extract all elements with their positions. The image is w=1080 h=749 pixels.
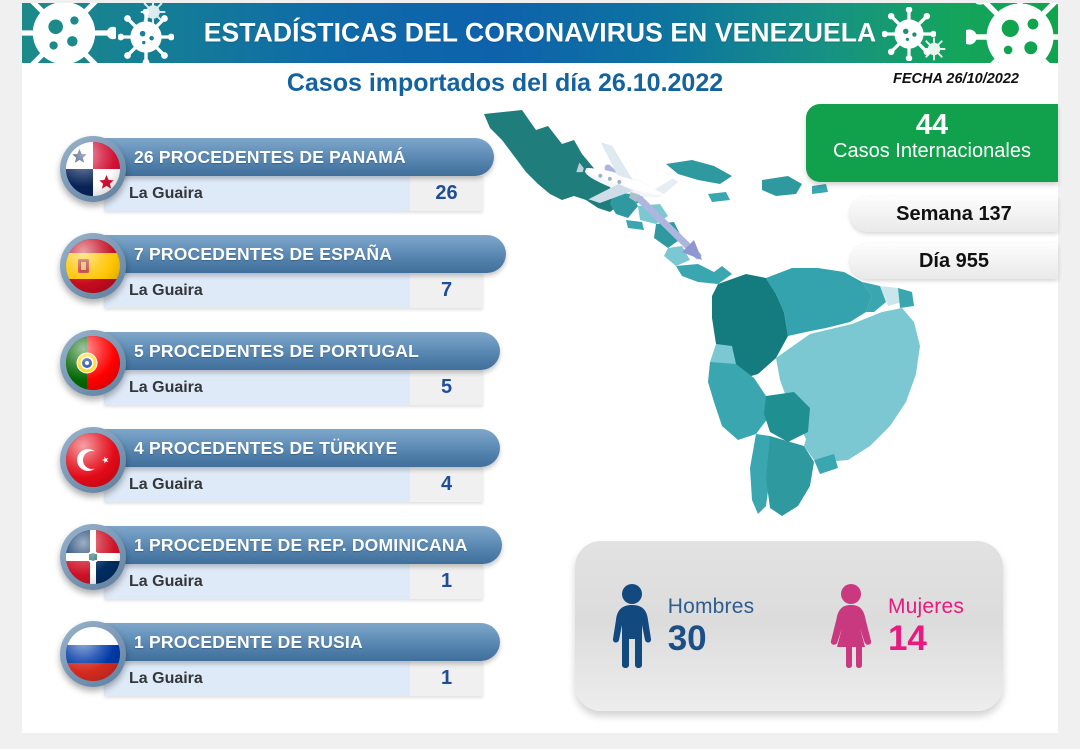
country-pill: 26 PROCEDENTES DE PANAMÁ [104, 138, 494, 176]
male-figure-icon [610, 583, 654, 669]
country-row: 4 PROCEDENTES DE TÜRKIYE La Guaira 4 [0, 425, 540, 522]
country-title: 5 PROCEDENTES DE PORTUGAL [134, 341, 419, 362]
state-data-row: La Guaira 26 [104, 176, 483, 211]
state-data-row: La Guaira 5 [104, 370, 483, 405]
gender-block-female: Mujeres 14 [789, 583, 1003, 669]
map-region-peru [708, 362, 768, 440]
country-pill: 7 PROCEDENTES DE ESPAÑA [104, 235, 506, 273]
spain-flag-icon [60, 233, 126, 299]
portugal-flag-icon [60, 330, 126, 396]
country-title: 1 PROCEDENTE DE REP. DOMINICANA [134, 535, 468, 556]
state-name: La Guaira [104, 467, 410, 502]
turkey-flag-icon [60, 427, 126, 493]
country-row: 26 PROCEDENTES DE PANAMÁ La Guaira 26 [0, 134, 540, 231]
international-cases-label: Casos Internacionales [806, 140, 1058, 163]
female-text-group: Mujeres 14 [888, 596, 964, 656]
country-title: 4 PROCEDENTES DE TÜRKIYE [134, 438, 397, 459]
female-label: Mujeres [888, 596, 964, 617]
page-title: ESTADÍSTICAS DEL CORONAVIRUS EN VENEZUEL… [22, 18, 1058, 49]
russia-flag-icon [60, 621, 126, 687]
day-chip: Día 955 [850, 243, 1058, 279]
flight-route-graphic [570, 130, 770, 290]
state-count: 1 [410, 564, 483, 599]
gender-block-male: Hombres 30 [575, 583, 789, 669]
male-text-group: Hombres 30 [668, 596, 755, 656]
state-count: 5 [410, 370, 483, 405]
state-data-row: La Guaira 4 [104, 467, 483, 502]
country-pill: 5 PROCEDENTES DE PORTUGAL [104, 332, 500, 370]
map-region-french-guiana [898, 288, 914, 308]
male-label: Hombres [668, 596, 755, 617]
state-data-row: La Guaira 1 [104, 661, 483, 696]
country-row: 5 PROCEDENTES DE PORTUGAL La Guaira 5 [0, 328, 540, 425]
header-band: ESTADÍSTICAS DEL CORONAVIRUS EN VENEZUEL… [22, 3, 1058, 63]
country-row: 1 PROCEDENTE DE RUSIA La Guaira 1 [0, 619, 540, 716]
state-count: 1 [410, 661, 483, 696]
country-title: 7 PROCEDENTES DE ESPAÑA [134, 244, 392, 265]
state-name: La Guaira [104, 273, 410, 308]
infographic-canvas: ESTADÍSTICAS DEL CORONAVIRUS EN VENEZUEL… [0, 0, 1080, 749]
country-pill: 1 PROCEDENTE DE REP. DOMINICANA [104, 526, 502, 564]
female-figure-icon [828, 583, 874, 669]
female-value: 14 [888, 621, 964, 656]
state-name: La Guaira [104, 176, 410, 211]
male-value: 30 [668, 621, 755, 656]
state-name: La Guaira [104, 564, 410, 599]
panama-flag-icon [60, 136, 126, 202]
country-list: 26 PROCEDENTES DE PANAMÁ La Guaira 26 [0, 134, 540, 716]
airplane-icon [570, 138, 682, 224]
week-chip: Semana 137 [850, 196, 1058, 232]
country-pill: 4 PROCEDENTES DE TÜRKIYE [104, 429, 500, 467]
state-data-row: La Guaira 7 [104, 273, 483, 308]
state-name: La Guaira [104, 661, 410, 696]
map-region-puerto-rico [812, 184, 828, 194]
dominican-republic-flag-icon [60, 524, 126, 590]
date-label: FECHA 26/10/2022 [876, 71, 1036, 87]
country-title: 26 PROCEDENTES DE PANAMÁ [134, 147, 406, 168]
state-name: La Guaira [104, 370, 410, 405]
country-title: 1 PROCEDENTE DE RUSIA [134, 632, 363, 653]
state-count: 4 [410, 467, 483, 502]
international-cases-value: 44 [806, 110, 1058, 140]
page-subtitle: Casos importados del día 26.10.2022 [0, 69, 1010, 98]
country-pill: 1 PROCEDENTE DE RUSIA [104, 623, 500, 661]
international-cases-card: 44 Casos Internacionales [806, 104, 1058, 182]
state-count: 26 [410, 176, 483, 211]
country-row: 7 PROCEDENTES DE ESPAÑA La Guaira 7 [0, 231, 540, 328]
state-data-row: La Guaira 1 [104, 564, 483, 599]
gender-breakdown-panel: Hombres 30 Mujeres 14 [575, 541, 1003, 711]
country-row: 1 PROCEDENTE DE REP. DOMINICANA La Guair… [0, 522, 540, 619]
state-count: 7 [410, 273, 483, 308]
